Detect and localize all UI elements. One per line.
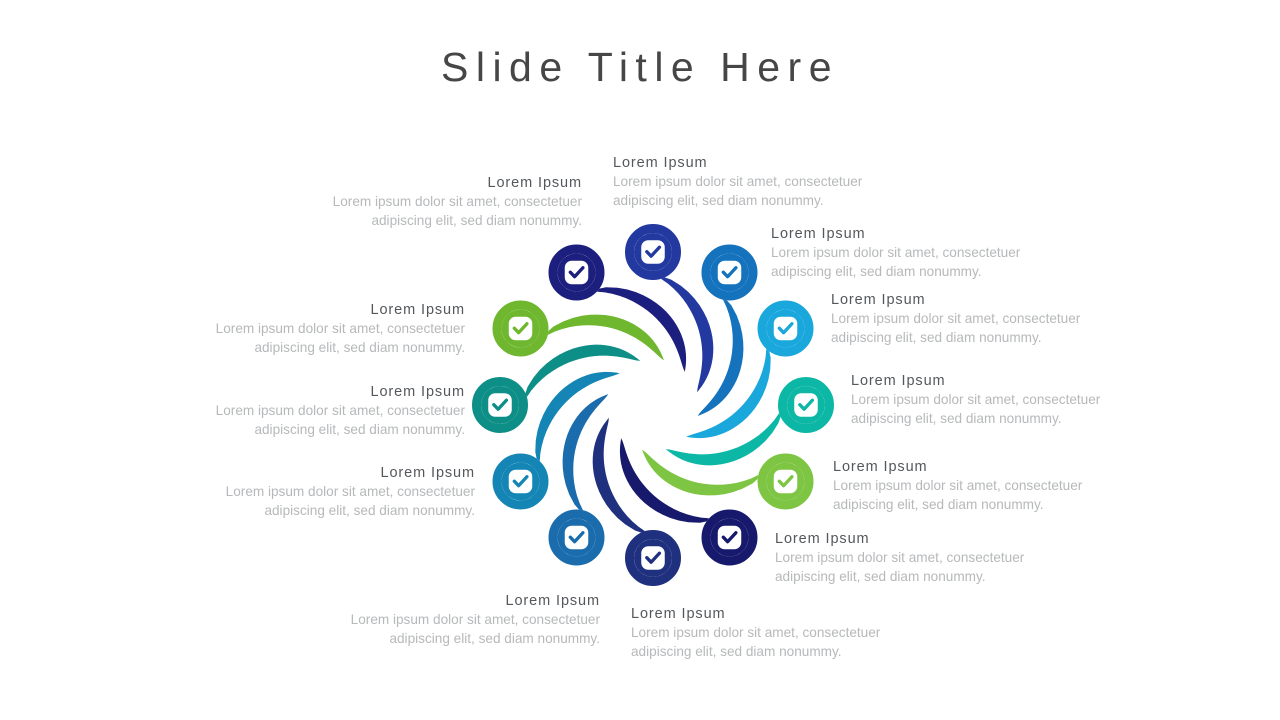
callout-heading: Lorem Ipsum xyxy=(631,605,921,624)
callout-heading: Lorem Ipsum xyxy=(185,464,475,483)
callout-block[interactable]: Lorem Ipsum Lorem ipsum dolor sit amet, … xyxy=(833,458,1123,514)
callout-block[interactable]: Lorem Ipsum Lorem ipsum dolor sit amet, … xyxy=(613,154,913,210)
callout-heading: Lorem Ipsum xyxy=(613,154,913,173)
callout-body: Lorem ipsum dolor sit amet, consectetuer… xyxy=(613,173,913,210)
pinwheel-petal xyxy=(666,403,784,465)
callout-block[interactable]: Lorem Ipsum Lorem ipsum dolor sit amet, … xyxy=(831,291,1121,347)
pinwheel-node[interactable] xyxy=(625,224,681,280)
callout-body: Lorem ipsum dolor sit amet, consectetuer… xyxy=(310,611,600,648)
callout-body: Lorem ipsum dolor sit amet, consectetuer… xyxy=(851,391,1141,428)
pinwheel-node[interactable] xyxy=(702,244,758,300)
callout-heading: Lorem Ipsum xyxy=(195,301,465,320)
pinwheel-petal xyxy=(651,274,713,392)
callout-block[interactable]: Lorem Ipsum Lorem ipsum dolor sit amet, … xyxy=(175,383,465,439)
page-title: Slide Title Here xyxy=(0,44,1280,91)
pinwheel-node[interactable] xyxy=(492,301,548,357)
pinwheel-node[interactable] xyxy=(549,244,605,300)
callout-heading: Lorem Ipsum xyxy=(775,530,1065,549)
pinwheel-petal xyxy=(522,345,640,407)
callout-body: Lorem ipsum dolor sit amet, consectetuer… xyxy=(775,549,1065,586)
slide-canvas: Slide Title Here Lorem Ipsum Lorem ipsum… xyxy=(0,0,1280,720)
pinwheel-node[interactable] xyxy=(492,454,548,510)
callout-body: Lorem ipsum dolor sit amet, consectetuer… xyxy=(631,624,921,661)
callout-body: Lorem ipsum dolor sit amet, consectetuer… xyxy=(185,483,475,520)
callout-body: Lorem ipsum dolor sit amet, consectetuer… xyxy=(195,320,465,357)
callout-block[interactable]: Lorem Ipsum Lorem ipsum dolor sit amet, … xyxy=(775,530,1065,586)
pinwheel-node[interactable] xyxy=(758,301,814,357)
pinwheel-node[interactable] xyxy=(549,510,605,566)
pinwheel-node[interactable] xyxy=(778,377,834,433)
callout-block[interactable]: Lorem Ipsum Lorem ipsum dolor sit amet, … xyxy=(310,592,600,648)
callout-block[interactable]: Lorem Ipsum Lorem ipsum dolor sit amet, … xyxy=(185,464,475,520)
callout-heading: Lorem Ipsum xyxy=(310,592,600,611)
callout-block[interactable]: Lorem Ipsum Lorem ipsum dolor sit amet, … xyxy=(310,174,582,230)
callout-heading: Lorem Ipsum xyxy=(771,225,1061,244)
callout-body: Lorem ipsum dolor sit amet, consectetuer… xyxy=(175,402,465,439)
callout-heading: Lorem Ipsum xyxy=(833,458,1123,477)
pinwheel-petal xyxy=(593,418,655,536)
callout-block[interactable]: Lorem Ipsum Lorem ipsum dolor sit amet, … xyxy=(851,372,1141,428)
callout-body: Lorem ipsum dolor sit amet, consectetuer… xyxy=(771,244,1061,281)
callout-body: Lorem ipsum dolor sit amet, consectetuer… xyxy=(310,193,582,230)
pinwheel-node[interactable] xyxy=(758,454,814,510)
callout-block[interactable]: Lorem Ipsum Lorem ipsum dolor sit amet, … xyxy=(195,301,465,357)
callout-heading: Lorem Ipsum xyxy=(310,174,582,193)
pinwheel-node[interactable] xyxy=(702,510,758,566)
callout-heading: Lorem Ipsum xyxy=(851,372,1141,391)
callout-body: Lorem ipsum dolor sit amet, consectetuer… xyxy=(833,477,1123,514)
callout-block[interactable]: Lorem Ipsum Lorem ipsum dolor sit amet, … xyxy=(771,225,1061,281)
callout-heading: Lorem Ipsum xyxy=(831,291,1121,310)
callout-body: Lorem ipsum dolor sit amet, consectetuer… xyxy=(831,310,1121,347)
petal-layer xyxy=(522,274,784,536)
callout-heading: Lorem Ipsum xyxy=(175,383,465,402)
pinwheel-node[interactable] xyxy=(625,530,681,586)
pinwheel-node[interactable] xyxy=(472,377,528,433)
callout-block[interactable]: Lorem Ipsum Lorem ipsum dolor sit amet, … xyxy=(631,605,921,661)
